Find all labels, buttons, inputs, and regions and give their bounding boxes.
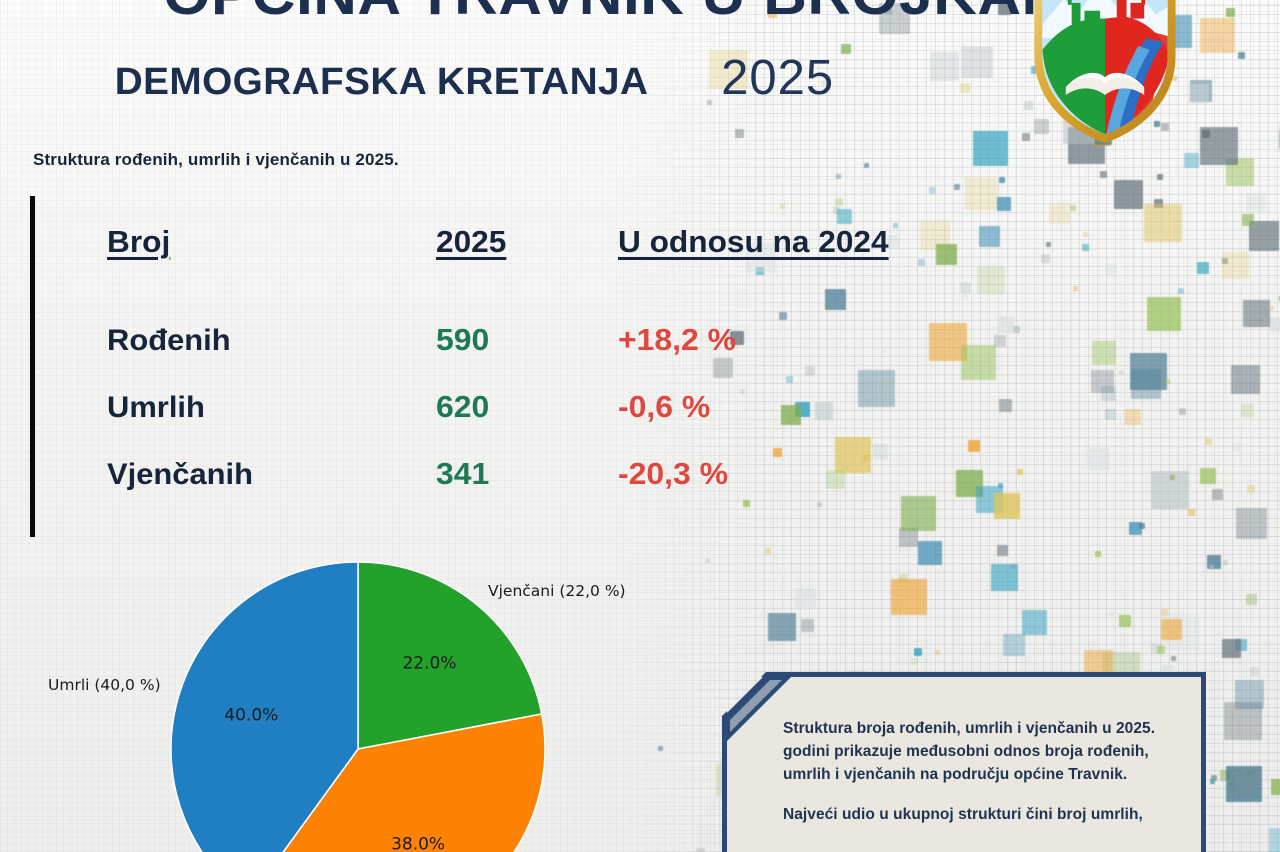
table-header-vs-2024: U odnosu na 2024 bbox=[618, 224, 913, 260]
table-header-row: Broj 2025 U odnosu na 2024 bbox=[107, 224, 907, 260]
infographic-canvas: OPĆINA TRAVNIK U BROJKAMA DEMOGRAFSKA KR… bbox=[0, 0, 1280, 852]
row-delta-vjencanih: -20,3 % bbox=[618, 456, 916, 492]
row-delta-umrlih: -0,6 % bbox=[618, 389, 916, 425]
row-value-rodenih: 590 bbox=[436, 322, 624, 358]
table-row: Rođenih 590 +18,2 % bbox=[107, 322, 907, 358]
row-value-vjencanih: 341 bbox=[436, 456, 624, 492]
note-paragraph-1: Struktura broja rođenih, umrlih i vjenča… bbox=[783, 718, 1179, 786]
pie-chart-svg: 22.0%38.0%40.0% Vjenčani (22,0 %) Umrli … bbox=[0, 524, 700, 852]
page-subtitle: DEMOGRAFSKA KRETANJA bbox=[115, 61, 649, 104]
pie-chart: 22.0%38.0%40.0% Vjenčani (22,0 %) Umrli … bbox=[0, 524, 700, 852]
subtitle-row: DEMOGRAFSKA KRETANJA 2025 bbox=[120, 50, 834, 106]
row-value-umrlih: 620 bbox=[436, 389, 624, 425]
pie-value-label-umrli: 40.0% bbox=[224, 705, 278, 725]
pie-outside-label-umrli: Umrli (40,0 %) bbox=[48, 676, 161, 694]
pie-value-label-rođeni: 38.0% bbox=[391, 835, 445, 852]
report-year: 2025 bbox=[721, 50, 834, 106]
vertical-rule-divider bbox=[30, 196, 35, 537]
section-caption: Struktura rođenih, umrlih i vjenčanih u … bbox=[33, 150, 399, 170]
pie-value-label-vjenčani: 22.0% bbox=[402, 654, 456, 674]
stats-table: Broj 2025 U odnosu na 2024 Rođenih 590 +… bbox=[107, 224, 907, 523]
row-label-vjencanih: Vjenčanih bbox=[107, 458, 446, 492]
row-label-umrlih: Umrlih bbox=[107, 391, 446, 425]
table-row: Vjenčanih 341 -20,3 % bbox=[107, 456, 907, 492]
coat-of-arms-icon bbox=[1005, 0, 1205, 144]
table-row: Umrlih 620 -0,6 % bbox=[107, 389, 907, 425]
row-label-rodenih: Rođenih bbox=[107, 324, 446, 358]
note-box: Struktura broja rođenih, umrlih i vjenča… bbox=[722, 672, 1206, 852]
note-paragraph-2: Najveći udio u ukupnoj strukturi čini br… bbox=[783, 804, 1179, 827]
note-content: Struktura broja rođenih, umrlih i vjenča… bbox=[727, 677, 1201, 852]
pie-outside-label-vjencani: Vjenčani (22,0 %) bbox=[488, 582, 626, 600]
row-delta-rodenih: +18,2 % bbox=[618, 322, 916, 358]
table-header-2025: 2025 bbox=[436, 224, 622, 260]
table-header-broj: Broj bbox=[107, 224, 442, 260]
